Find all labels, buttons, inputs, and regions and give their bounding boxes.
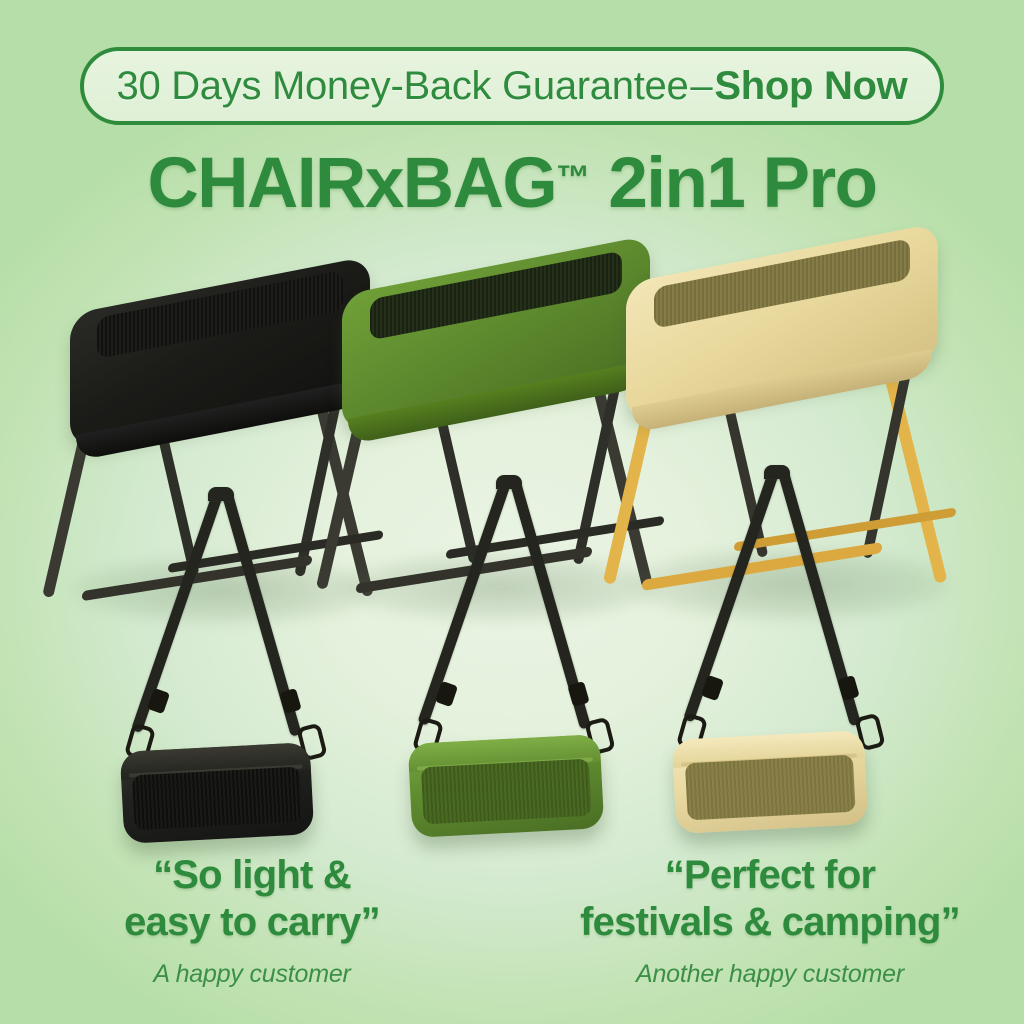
guarantee-banner[interactable]: 30 Days Money-Back Guarantee–Shop Now: [80, 47, 944, 125]
bag-green-strap-apex: [496, 475, 522, 489]
testimonial-left-quote-line1: “So light &: [42, 852, 462, 899]
guarantee-banner-text: 30 Days Money-Back Guarantee–Shop Now: [117, 64, 908, 109]
guarantee-label: 30 Days Money-Back Guarantee: [117, 64, 689, 108]
testimonial-right-author: Another happy customer: [540, 960, 1000, 989]
bag-tan[interactable]: [672, 730, 869, 834]
testimonial-left-quote: “So light & easy to carry”: [42, 852, 462, 946]
bag-tan-strap-left: [683, 471, 779, 722]
bag-green-strap-slider-right[interactable]: [567, 681, 589, 707]
bag-green[interactable]: [408, 734, 605, 838]
testimonial-right-quote: “Perfect for festivals & camping”: [540, 852, 1000, 946]
bag-black-strap-left: [131, 493, 223, 733]
bag-green-front-panel: [420, 759, 592, 824]
stool-black-mesh-panel: [97, 271, 343, 359]
bag-green-group[interactable]: [390, 473, 640, 823]
product-scene: [0, 215, 1024, 855]
bag-green-strap-left: [417, 481, 510, 726]
stool-tan-mesh-panel: [654, 238, 910, 329]
testimonial-right-quote-line1: “Perfect for: [540, 852, 1000, 899]
bag-tan-strap-slider-right[interactable]: [837, 675, 859, 701]
bag-tan-front-panel: [684, 755, 856, 820]
bag-tan-strap-apex: [764, 465, 790, 479]
brand-name: CHAIRxBAG: [148, 144, 557, 223]
stool-green-mesh-panel: [370, 250, 623, 340]
testimonial-right: “Perfect for festivals & camping” Anothe…: [540, 852, 1000, 989]
product-variant: 2in1 Pro: [590, 144, 876, 223]
shop-now-cta[interactable]: Shop Now: [714, 64, 907, 108]
testimonial-right-quote-line2: festivals & camping”: [540, 899, 1000, 946]
testimonial-left-author: A happy customer: [42, 960, 462, 989]
bag-black-group[interactable]: [100, 485, 350, 835]
trademark-symbol: ™: [556, 159, 590, 197]
ad-canvas: 30 Days Money-Back Guarantee–Shop Now CH…: [0, 0, 1024, 1024]
testimonials: “So light & easy to carry” A happy custo…: [0, 852, 1024, 1012]
bag-black-front-panel: [132, 767, 302, 831]
testimonial-left-quote-line2: easy to carry”: [42, 899, 462, 946]
banner-dash: –: [688, 64, 714, 108]
bag-tan-group[interactable]: [650, 463, 910, 823]
page-title: CHAIRxBAG™ 2in1 Pro: [0, 143, 1024, 224]
bag-black[interactable]: [120, 742, 315, 844]
testimonial-left: “So light & easy to carry” A happy custo…: [42, 852, 462, 989]
bag-black-strap-apex: [208, 487, 234, 501]
